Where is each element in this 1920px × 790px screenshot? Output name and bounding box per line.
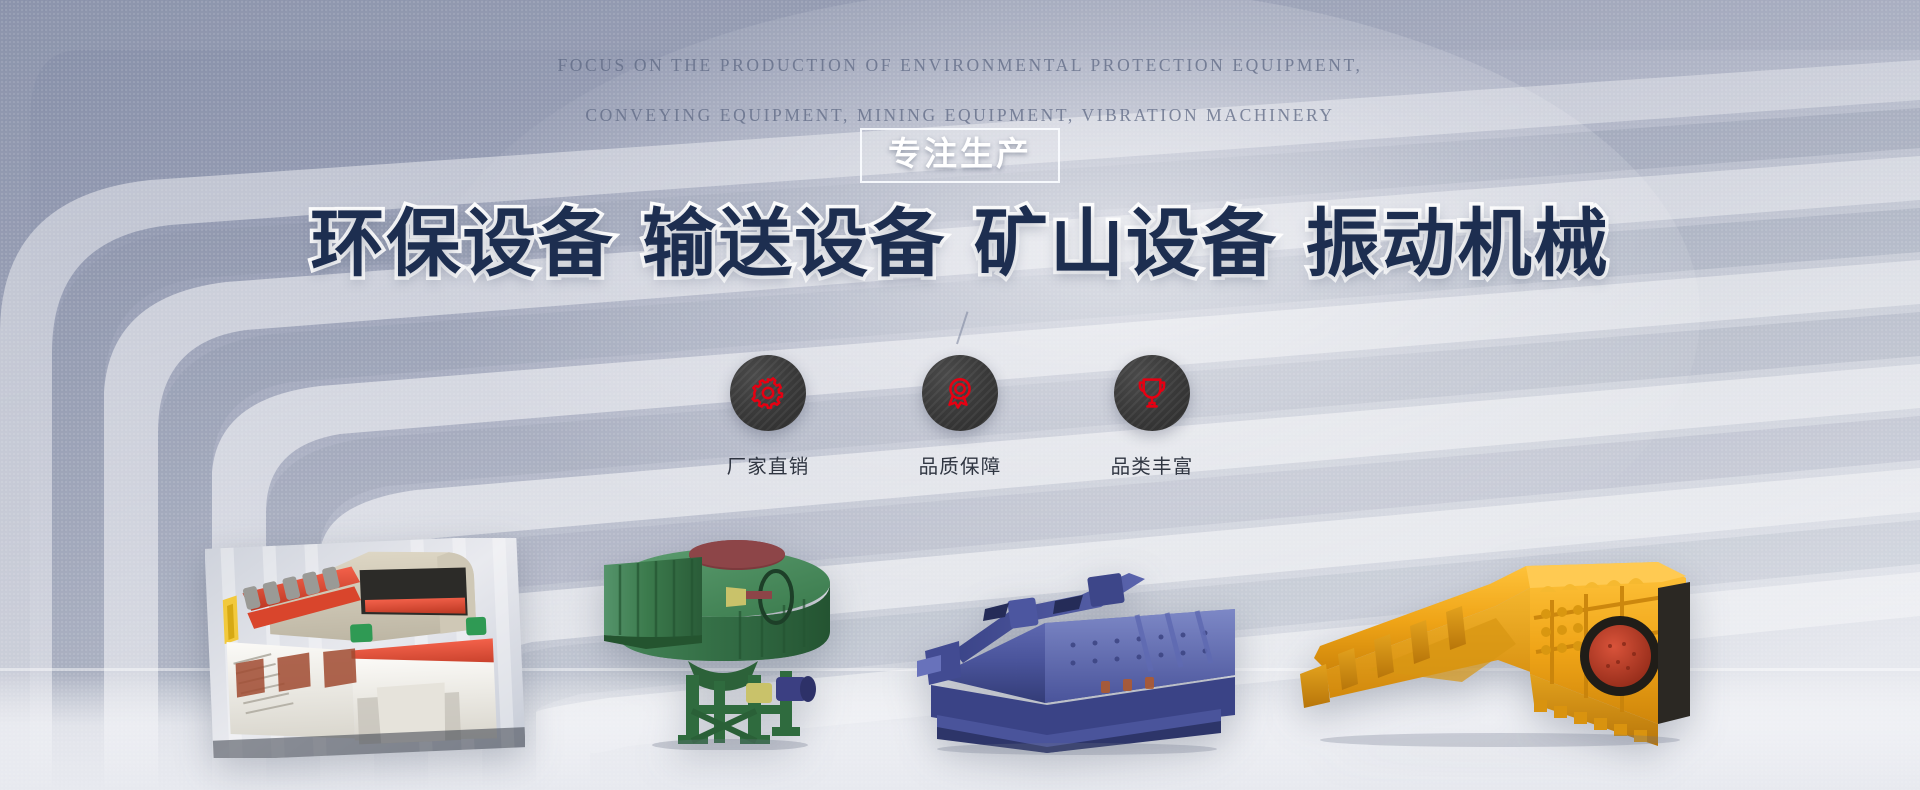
hero-banner: FOCUS ON THE PRODUCTION OF ENVIRONMENTAL… xyxy=(0,0,1920,790)
product-photo-blue-vibrating-screen xyxy=(905,565,1245,755)
product-photo-yellow-jaw-crusher xyxy=(1290,548,1690,760)
product-photo-mineral-separator xyxy=(205,538,525,758)
product-gallery xyxy=(0,0,1920,790)
product-photo-green-mixer xyxy=(590,535,840,750)
